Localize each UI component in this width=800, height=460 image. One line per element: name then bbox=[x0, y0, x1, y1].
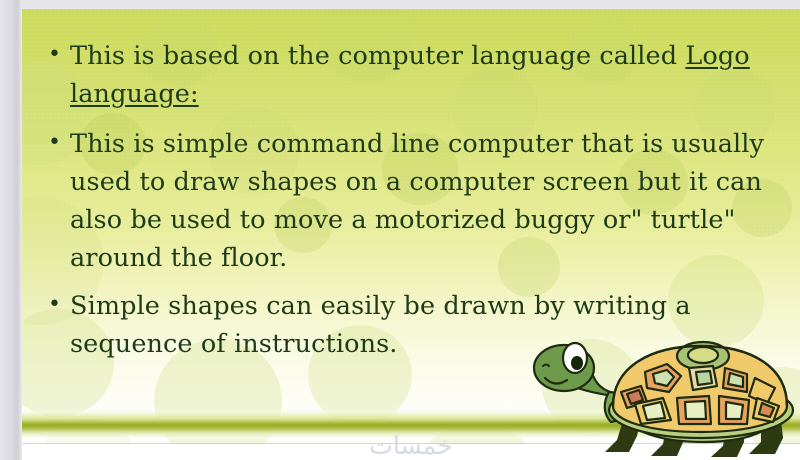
bullet-list-item: This is simple command line computer tha… bbox=[42, 125, 782, 277]
bullet-text-lead: This is based on the computer language c… bbox=[70, 41, 685, 71]
slide-canvas: This is based on the computer language c… bbox=[22, 9, 800, 460]
slide-body-text: This is based on the computer language c… bbox=[42, 37, 782, 369]
turtle-icon bbox=[517, 344, 800, 460]
slide-frame: This is based on the computer language c… bbox=[0, 0, 800, 460]
bullet-text-lead: This is simple command line computer tha… bbox=[70, 129, 764, 273]
frame-top-margin bbox=[0, 0, 800, 9]
frame-left-margin bbox=[0, 0, 22, 460]
bullet-list-item: This is based on the computer language c… bbox=[42, 37, 782, 113]
